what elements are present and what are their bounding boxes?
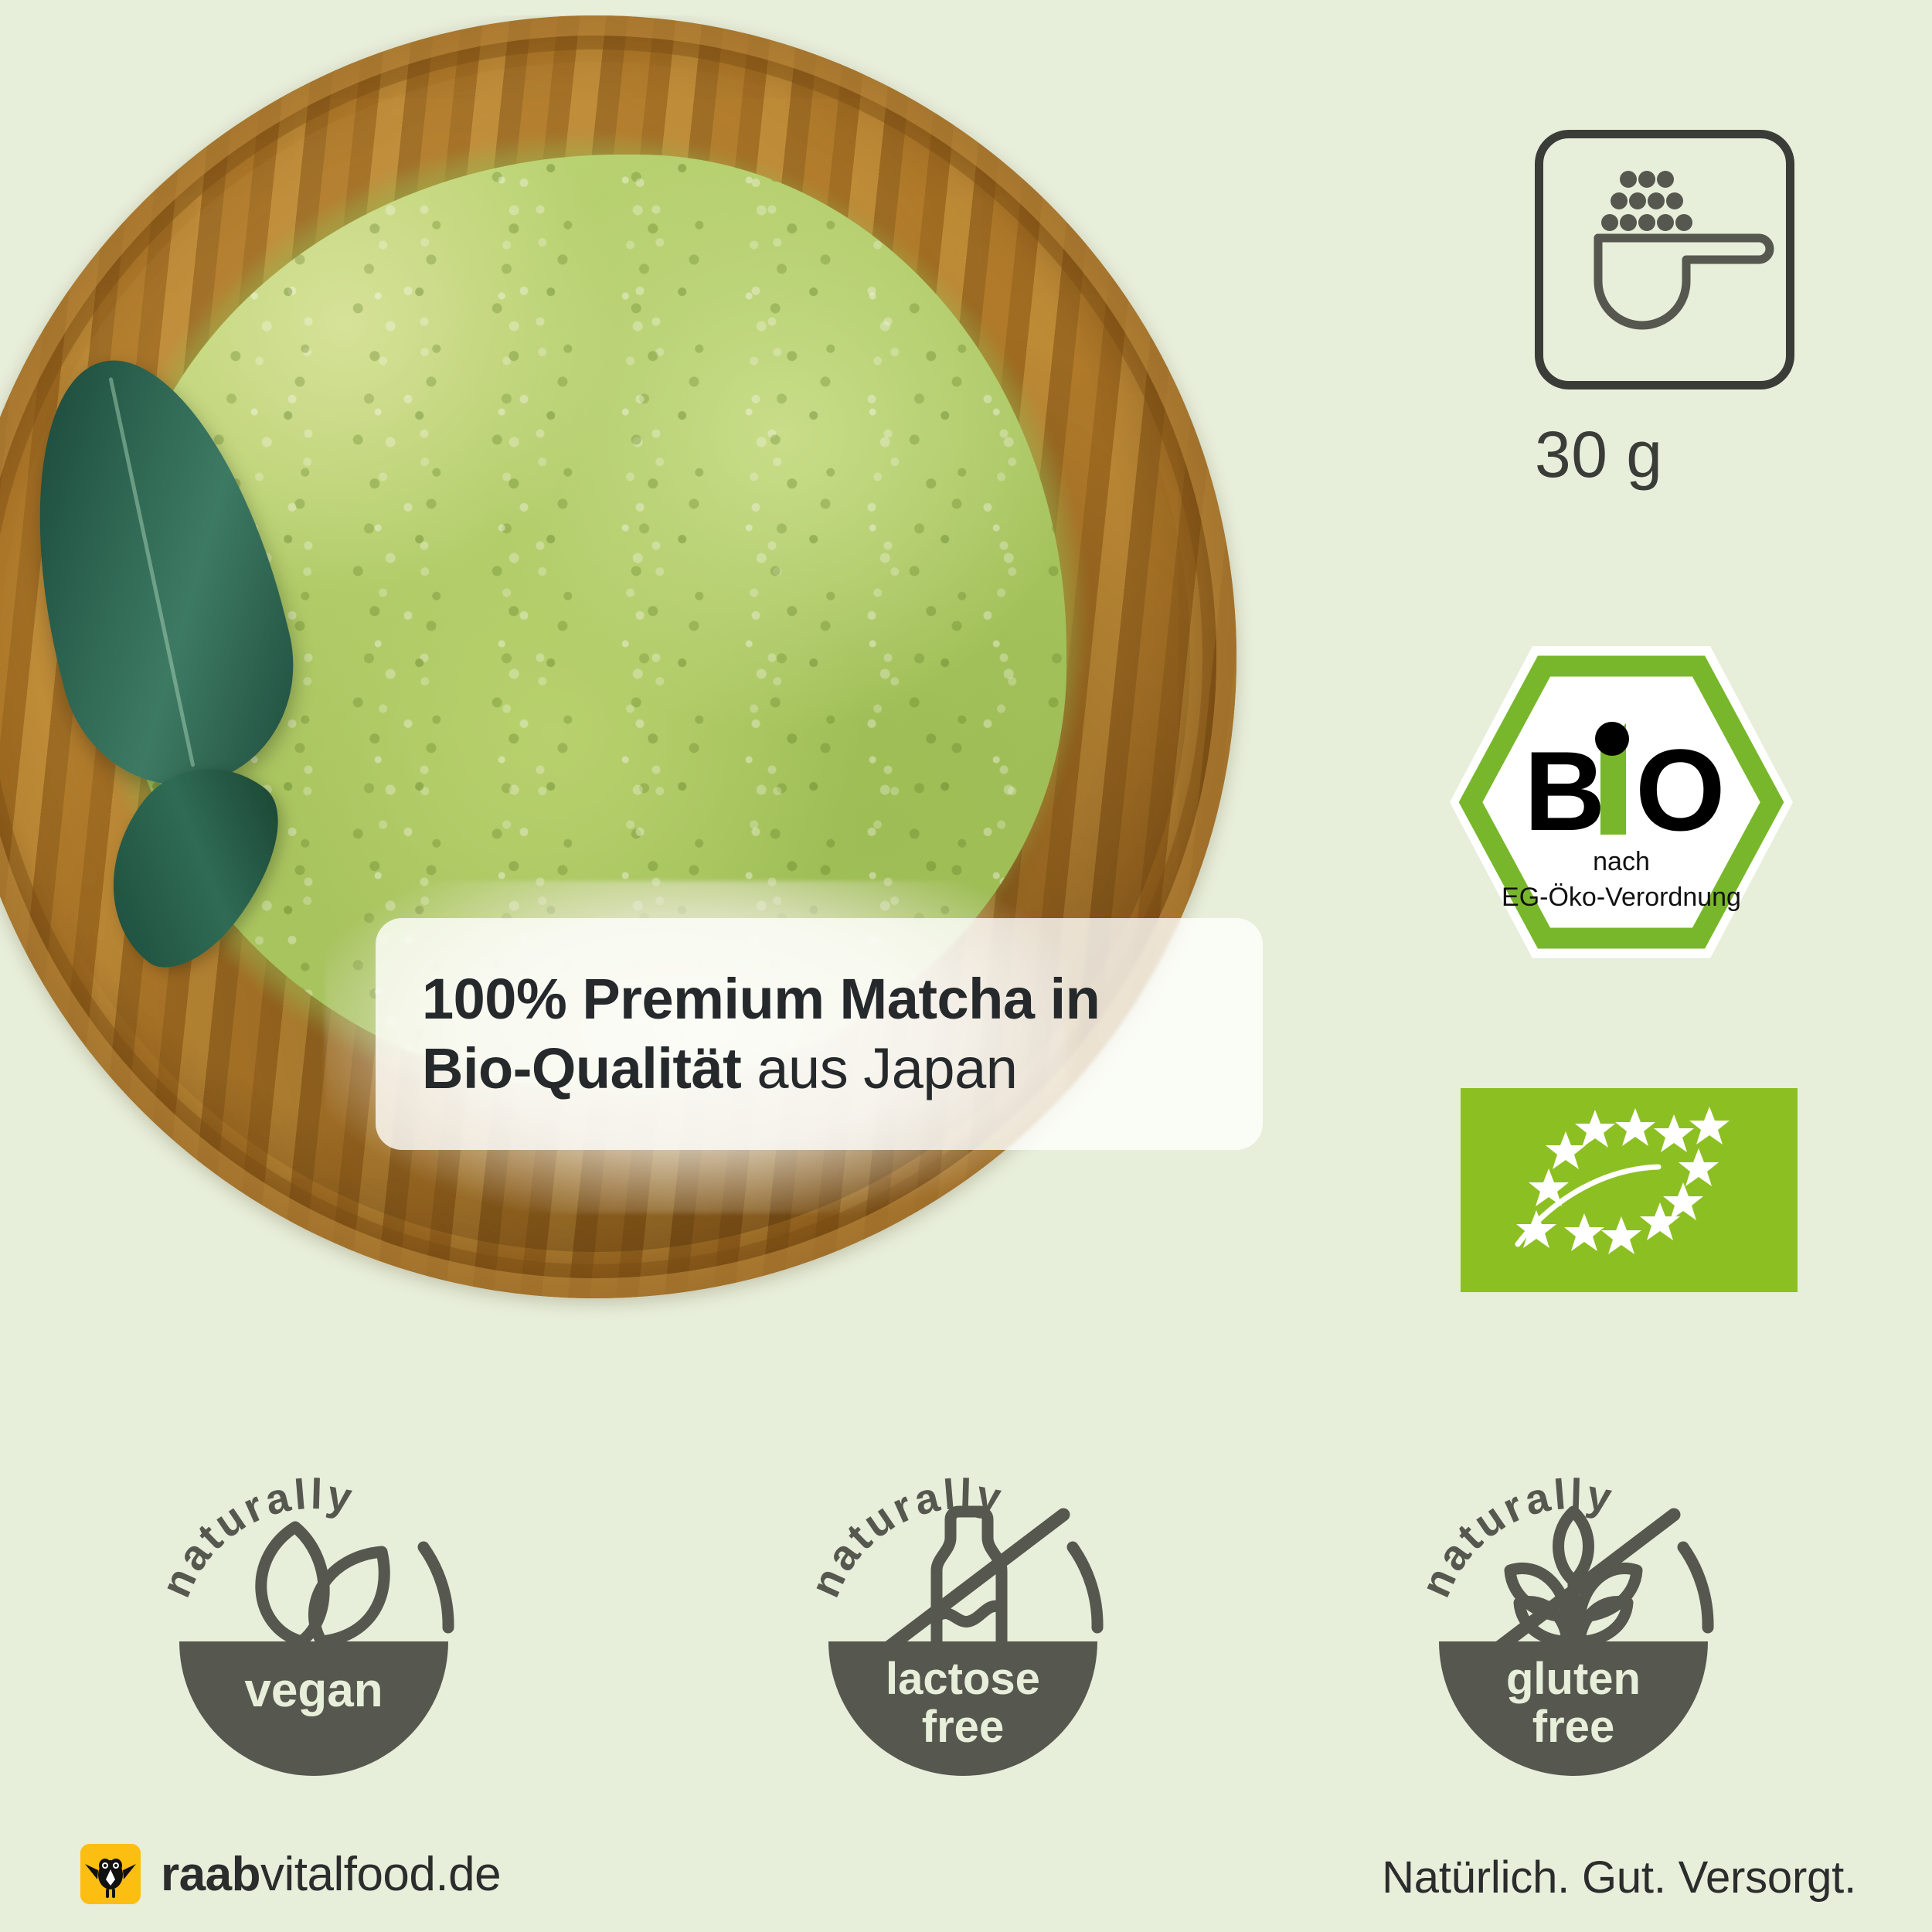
headline-light-2: aus Japan <box>741 1036 1017 1100</box>
badge-naturally-lactose-free: naturally lactose free <box>785 1434 1141 1790</box>
badge-label-gluten: gluten <box>1506 1654 1641 1704</box>
badge-label-free-2: free <box>1532 1702 1614 1752</box>
badge-naturally-gluten-free: naturally gluten free <box>1396 1434 1751 1790</box>
headline-banner: 100% Premium Matcha in Bio-Qualität aus … <box>376 918 1263 1150</box>
measuring-scoop-icon <box>1535 130 1794 389</box>
badge-label-vegan: vegan <box>244 1664 383 1717</box>
eu-organic-leaf-icon <box>1461 1088 1798 1292</box>
svg-text:B: B <box>1524 728 1605 854</box>
headline-strong-1: 100% Premium Matcha in <box>422 967 1100 1031</box>
brand-name-light: vitalfood.de <box>260 1848 501 1901</box>
badge-label-lactose: lactose <box>886 1654 1040 1704</box>
eu-stars-leaf <box>1461 1088 1798 1292</box>
brand-logo[interactable]: raabvitalfood.de <box>80 1844 501 1904</box>
headline-strong-2: Bio-Qualität <box>422 1036 741 1100</box>
badge-naturally-vegan: naturally vegan <box>136 1434 492 1790</box>
net-weight-label: 30 g <box>1535 417 1794 492</box>
brand-name-bold: raab <box>161 1848 260 1901</box>
bio-seal-sub-line-1: nach <box>1593 847 1650 876</box>
headline-line-2: Bio-Qualität aus Japan <box>422 1034 1216 1104</box>
footer-tagline: Natürlich. Gut. Versorgt. <box>1382 1852 1856 1903</box>
raven-logo-icon <box>80 1844 141 1904</box>
headline-line-1: 100% Premium Matcha in <box>422 964 1216 1034</box>
bio-seal-sub-line-2: EG-Öko-Verordnung <box>1502 883 1741 912</box>
bio-hexagon-seal-icon: B O nach EG-Öko-Verordnung <box>1444 640 1799 964</box>
svg-text:O: O <box>1635 725 1726 855</box>
brand-wordmark: raabvitalfood.de <box>161 1847 501 1902</box>
infographic-canvas: 100% Premium Matcha in Bio-Qualität aus … <box>0 0 1932 1932</box>
badge-label-free-1: free <box>922 1702 1004 1752</box>
milk-bottle-crossed-icon <box>884 1512 1063 1651</box>
